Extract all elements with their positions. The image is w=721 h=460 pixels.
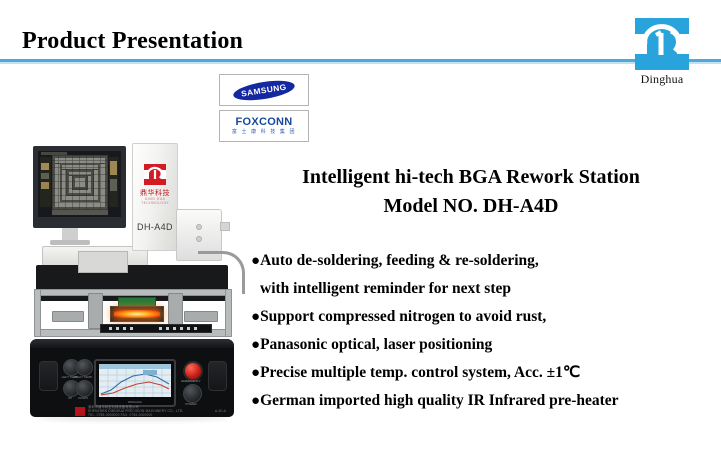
feature-text: German imported high quality IR Infrared… <box>260 392 619 409</box>
support-bracket <box>52 311 84 322</box>
brand-name: Dinghua <box>629 72 695 87</box>
console-model-label: A-4D-A <box>215 409 226 413</box>
feature-item: ●Support compressed nitrogen to avoid ru… <box>251 303 721 331</box>
foxconn-wordmark: FOXCONN <box>232 117 296 128</box>
product-headline: Intelligent hi-tech BGA Rework Station M… <box>232 163 710 221</box>
samsung-ellipse: SAMSUNG <box>232 77 296 103</box>
tower-logo-icon <box>144 164 166 185</box>
samsung-wordmark: SAMSUNG <box>241 82 288 98</box>
emergency-stop-label: EMERGENCY <box>176 379 206 383</box>
feature-list: ●Auto de-soldering, feeding & re-solderi… <box>251 247 721 415</box>
bullet-icon: ● <box>251 309 260 325</box>
monitor <box>33 146 126 228</box>
bullet-icon: ● <box>251 393 260 409</box>
bullet-icon: ● <box>251 337 260 353</box>
bullet-icon: ● <box>251 253 260 269</box>
monitor-base <box>50 240 90 245</box>
power-knob[interactable] <box>183 384 202 403</box>
feature-item: ●Auto de-soldering, feeding & re-solderi… <box>251 247 721 275</box>
headline-line-2: Model NO. DH-A4D <box>232 192 710 221</box>
knob-label: RIGHT TEMP. <box>70 375 96 379</box>
control-console: LEFT TEMP. RIGHT TEMP. UP DOWN <box>30 339 234 417</box>
tower-brand-pinyin: DING HUA TECHNOLOGY <box>133 197 177 205</box>
rail-top <box>34 289 232 296</box>
speaker-left <box>39 361 58 391</box>
client-logo-foxconn: FOXCONN 富 士 康 科 技 集 团 <box>219 110 309 142</box>
down-knob[interactable] <box>76 380 93 397</box>
dinghua-logo-icon <box>635 18 689 70</box>
feature-item: ●Panasonic optical, laser positioning <box>251 331 721 359</box>
monitor-screen <box>38 151 121 217</box>
brand-logo: Dinghua <box>629 18 695 96</box>
tower-model-label: DH-A4D <box>133 222 177 232</box>
lcd-touchscreen[interactable]: DINGHUA <box>94 359 176 407</box>
page-title: Product Presentation <box>22 28 243 55</box>
product-photo: 鼎华科技 DING HUA TECHNOLOGY DH-A4D <box>22 143 244 448</box>
feature-item: ●Precise multiple temp. control system, … <box>251 359 721 387</box>
knob-label: DOWN <box>70 396 96 400</box>
feature-text: Auto de-soldering, feeding & re-solderin… <box>260 252 539 269</box>
foxconn-subtext: 富 士 康 科 技 集 团 <box>232 130 296 135</box>
lcd-brand-label: DINGHUA <box>96 400 174 404</box>
feature-text: Panasonic optical, laser positioning <box>260 336 492 353</box>
indicator-strip <box>100 324 212 333</box>
headline-line-1: Intelligent hi-tech BGA Rework Station <box>232 163 710 192</box>
feature-text: Support compressed nitrogen to avoid rus… <box>260 308 546 325</box>
support-bracket <box>184 311 218 322</box>
rail-post-right <box>225 289 232 337</box>
feature-text: with intelligent reminder for next step <box>260 280 511 297</box>
header-divider-secondary <box>0 62 721 64</box>
feature-text: Precise multiple temp. control system, A… <box>260 364 580 381</box>
emergency-stop-button[interactable] <box>183 361 203 381</box>
rail-post-left <box>34 289 41 337</box>
feature-item: with intelligent reminder for next step <box>251 275 721 303</box>
lcd-graph <box>99 364 171 397</box>
temp-knob-right[interactable] <box>76 359 93 376</box>
bullet-icon: ● <box>251 365 260 381</box>
machine-tower: 鼎华科技 DING HUA TECHNOLOGY DH-A4D <box>132 143 178 251</box>
ir-heater <box>110 306 164 322</box>
speaker-right <box>208 361 227 391</box>
feature-item: ●German imported high quality IR Infrare… <box>251 387 721 415</box>
heater-glow <box>114 310 160 318</box>
client-logo-samsung: SAMSUNG <box>219 74 309 106</box>
drop-shadow <box>38 415 228 421</box>
